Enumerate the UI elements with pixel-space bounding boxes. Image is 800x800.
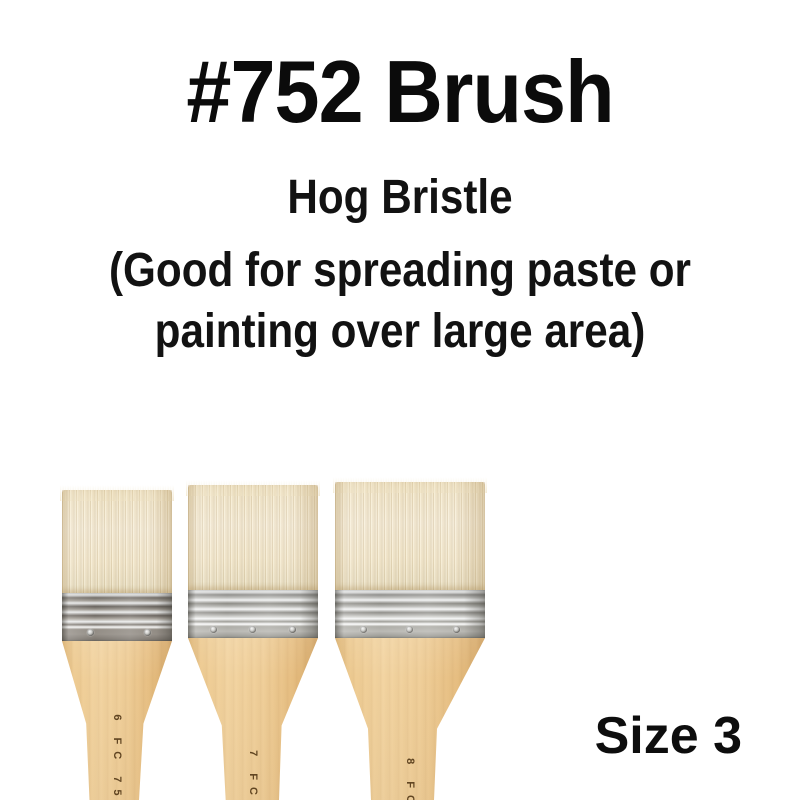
product-subtitle: Hog Bristle <box>48 174 752 222</box>
description-line-1: (Good for spreading paste or <box>48 240 752 301</box>
brush-size-8: 8 FC <box>335 482 485 800</box>
ferrule-rivet <box>249 626 256 633</box>
handle-size-7: 7 FC <box>188 638 318 800</box>
ferrule-rivet <box>210 626 217 633</box>
product-image-canvas: #752 Brush Hog Bristle (Good for spreadi… <box>0 0 800 800</box>
ferrule-rivet <box>289 626 296 633</box>
ferrule-size-8 <box>335 590 485 638</box>
ferrule-rivet <box>360 626 367 633</box>
page-title: #752 Brush <box>32 48 768 136</box>
size-badge: Size 3 <box>595 706 742 766</box>
product-text-block: #752 Brush Hog Bristle (Good for spreadi… <box>0 0 800 363</box>
ferrule-rivet <box>87 629 94 636</box>
ferrule-rivet <box>406 626 413 633</box>
ferrule-size-7 <box>188 590 318 638</box>
bristles-size-8 <box>335 482 485 590</box>
ferrule-rivet <box>453 626 460 633</box>
description-line-2: painting over large area) <box>48 301 752 362</box>
handle-marking-size-6: 6 FC 752 <box>111 714 123 800</box>
bristles-size-6 <box>62 490 172 593</box>
handle-marking-size-7: 7 FC <box>247 750 259 800</box>
bristles-size-7 <box>188 485 318 590</box>
handle-size-8: 8 FC <box>335 638 485 800</box>
brush-size-7: 7 FC <box>188 485 318 800</box>
handle-marking-size-8: 8 FC <box>404 758 416 800</box>
brush-size-6: 6 FC 752 <box>62 490 172 800</box>
ferrule-size-6 <box>62 593 172 641</box>
ferrule-rivet <box>144 629 151 636</box>
product-description: (Good for spreading paste or painting ov… <box>48 240 752 363</box>
handle-size-6: 6 FC 752 <box>62 641 172 800</box>
